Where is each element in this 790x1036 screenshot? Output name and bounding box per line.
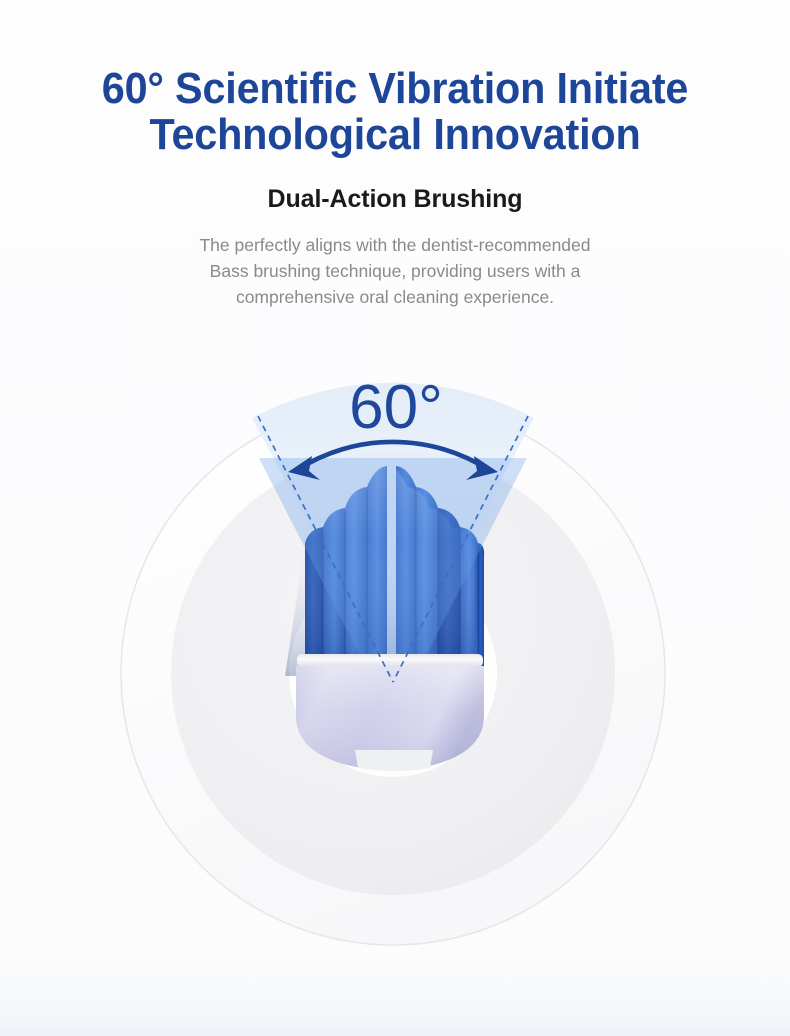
brush-base bbox=[296, 654, 484, 771]
body-copy-line-1: The perfectly aligns with the dentist-re… bbox=[115, 232, 675, 258]
header-text-block: 60° Scientific Vibration Initiate Techno… bbox=[0, 0, 790, 310]
page-title: 60° Scientific Vibration Initiate Techno… bbox=[0, 0, 790, 158]
brush-angle-illustration: Toothbrush head with blue bristles shown… bbox=[0, 330, 790, 1030]
brush-angle-svg: Toothbrush head with blue bristles shown… bbox=[0, 330, 790, 1030]
angle-label: 60° bbox=[349, 373, 443, 442]
brush-base-tab bbox=[355, 750, 433, 771]
body-copy: The perfectly aligns with the dentist-re… bbox=[115, 213, 675, 310]
body-copy-line-2: Bass brushing technique, providing users… bbox=[115, 258, 675, 284]
page-title-line-2: Technological Innovation bbox=[24, 112, 767, 158]
brush-base-rim bbox=[297, 654, 483, 667]
body-copy-line-3: comprehensive oral cleaning experience. bbox=[115, 284, 675, 310]
page-title-line-1: 60° Scientific Vibration Initiate bbox=[24, 66, 767, 112]
page-subtitle: Dual-Action Brushing bbox=[0, 158, 790, 213]
promo-page: 60° Scientific Vibration Initiate Techno… bbox=[0, 0, 790, 1036]
